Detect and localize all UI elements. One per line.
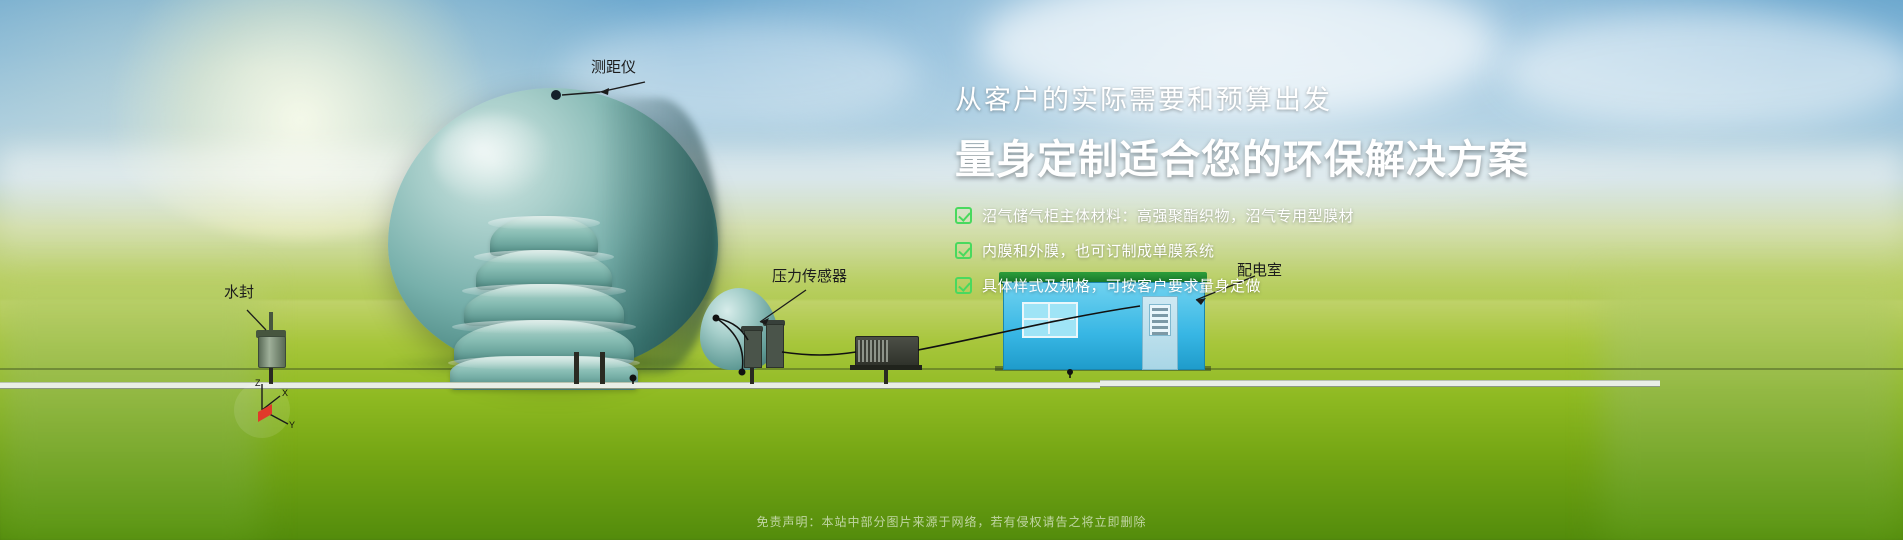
label-rangefinder: 测距仪 (591, 60, 636, 75)
svg-text:Y: Y (289, 420, 295, 430)
feature-list: 沼气储气柜主体材料：高强聚酯织物，沼气专用型膜材 内膜和外膜，也可订制成单膜系统… (955, 205, 1655, 296)
marketing-copy: 从客户的实际需要和预算出发 量身定制适合您的环保解决方案 沼气储气柜主体材料：高… (955, 78, 1655, 310)
axis-gizmo: Z X Y (228, 378, 298, 440)
feature-text: 沼气储气柜主体材料：高强聚酯织物，沼气专用型膜材 (982, 205, 1354, 226)
svg-text:Z: Z (255, 378, 261, 388)
disclaimer-text: 免责声明：本站中部分图片来源于网络，若有侵权请告之将立即删除 (0, 513, 1903, 530)
list-item: 具体样式及规格，可按客户要求量身定做 (955, 275, 1655, 296)
check-icon (955, 277, 972, 294)
check-icon (955, 207, 972, 224)
banner-stage: 测距仪 水封 压力传感器 配电室 Z X Y 从客户的实际需要和预算出发 量身定… (0, 0, 1903, 540)
label-pressure-sensor: 压力传感器 (772, 269, 847, 284)
feature-text: 具体样式及规格，可按客户要求量身定做 (982, 275, 1261, 296)
list-item: 内膜和外膜，也可订制成单膜系统 (955, 240, 1655, 261)
label-water-seal: 水封 (224, 285, 254, 300)
list-item: 沼气储气柜主体材料：高强聚酯织物，沼气专用型膜材 (955, 205, 1655, 226)
svg-text:X: X (282, 388, 288, 398)
feature-text: 内膜和外膜，也可订制成单膜系统 (982, 240, 1215, 261)
check-icon (955, 242, 972, 259)
copy-heading: 量身定制适合您的环保解决方案 (955, 127, 1655, 185)
copy-subheading: 从客户的实际需要和预算出发 (955, 78, 1655, 117)
